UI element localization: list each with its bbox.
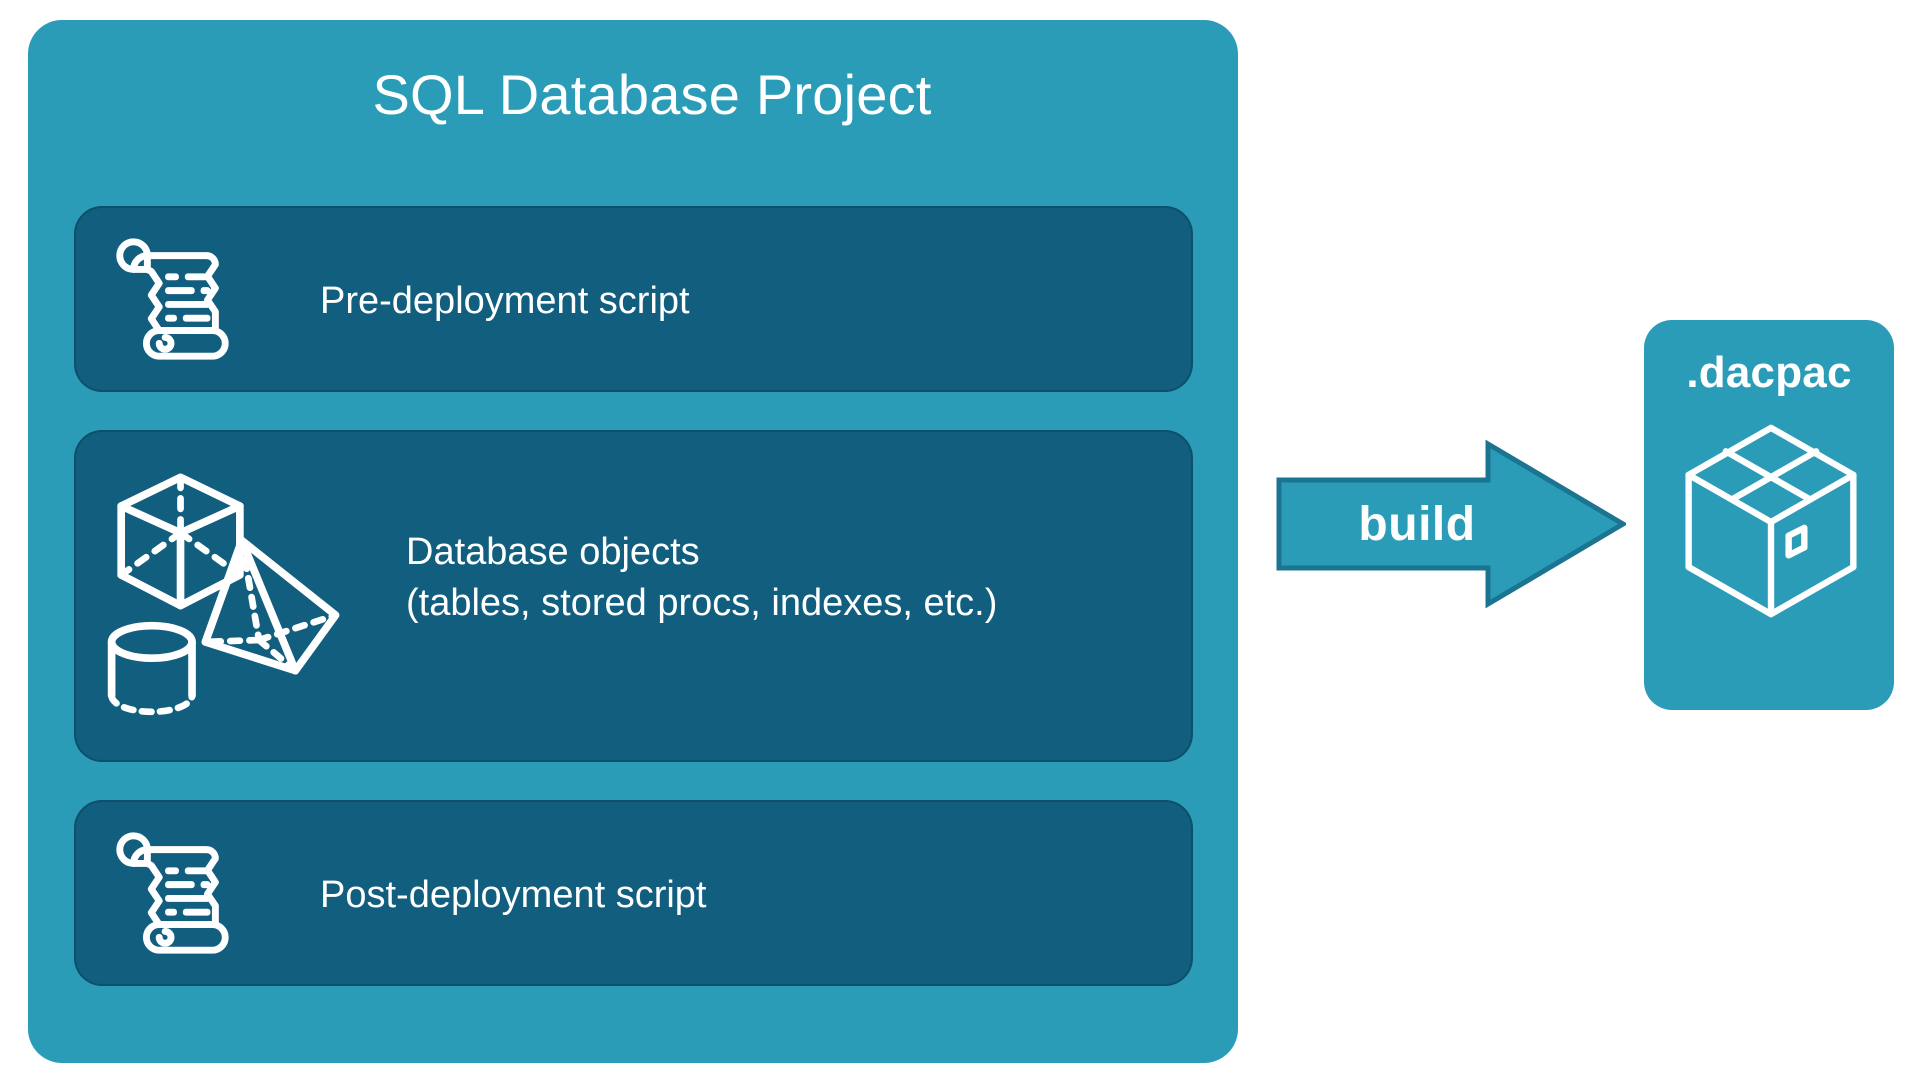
dacpac-output-card[interactable]: .dacpac (1644, 320, 1894, 710)
scroll-icon (104, 230, 242, 368)
package-box-icon (1682, 420, 1860, 620)
label-line-1: Database objects (406, 531, 700, 573)
panel-pre-deployment-script[interactable]: Pre-deployment script (76, 208, 1191, 390)
sql-database-project-container: SQL Database Project (28, 20, 1238, 1063)
page-title: SQL Database Project (28, 64, 1238, 126)
panel-post-deployment-script[interactable]: Post-deployment script (76, 802, 1191, 984)
cylinder-icon (112, 626, 192, 712)
diagram-canvas: SQL Database Project (0, 0, 1920, 1080)
arrow-right-icon (1276, 438, 1626, 610)
panel-label-pre-deployment: Pre-deployment script (320, 276, 690, 327)
panel-database-objects[interactable]: Database objects(tables, stored procs, i… (76, 432, 1191, 760)
dacpac-label: .dacpac (1644, 348, 1894, 398)
panel-label-database-objects: Database objects(tables, stored procs, i… (406, 527, 997, 630)
pyramid-icon (205, 540, 335, 670)
panel-label-post-deployment: Post-deployment script (320, 870, 707, 921)
scroll-icon (104, 824, 242, 962)
shapes-icon (98, 462, 376, 730)
label-line-2: (tables, stored procs, indexes, etc.) (406, 582, 997, 624)
